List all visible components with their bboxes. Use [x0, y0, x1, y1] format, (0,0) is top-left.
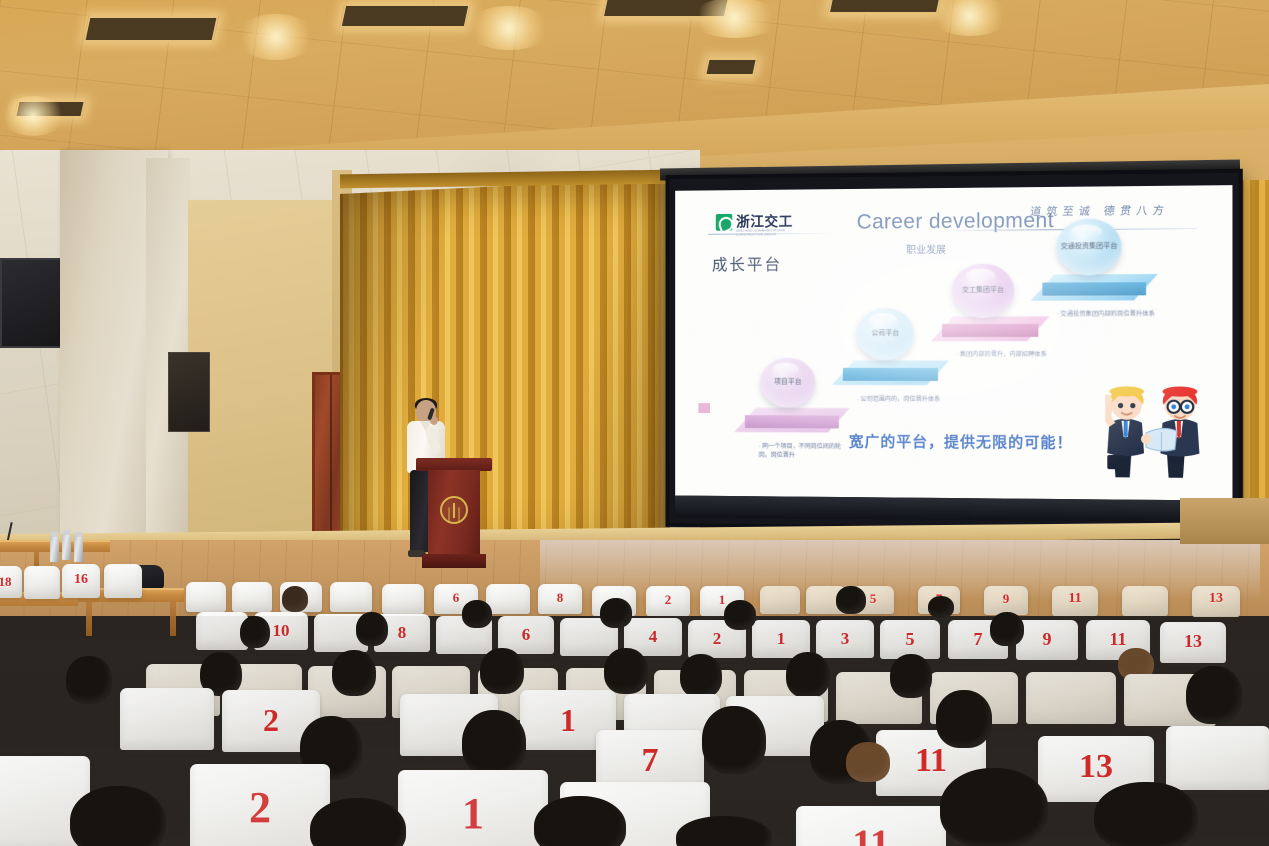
audience-head	[724, 600, 756, 630]
seat-number: 3	[816, 630, 874, 647]
slide-section-heading: 成长平台	[712, 251, 782, 275]
step-3-label: 交工集团平台	[962, 286, 1004, 295]
seat-number: 7	[596, 744, 704, 778]
speaker-podium	[422, 458, 486, 570]
audience-head	[282, 586, 308, 612]
audience-head	[928, 596, 954, 618]
audience-head	[990, 612, 1024, 646]
thermos-bottle	[50, 536, 59, 562]
seat-chair[interactable]	[330, 582, 372, 612]
slide-title-chinese: 职业发展	[906, 241, 946, 256]
audience-head	[240, 616, 270, 648]
step-1-slab-front	[745, 415, 839, 428]
step-2-label: 公司平台	[871, 330, 899, 339]
stage-curtain-shading	[340, 178, 670, 578]
seat-number: 1	[398, 792, 548, 836]
seat-chair[interactable]: 18	[0, 566, 22, 598]
seat-chair[interactable]: 2	[646, 586, 690, 616]
seat-number: 13	[1038, 750, 1154, 784]
stage-step-right	[1180, 498, 1269, 544]
step-3-bubble: 交工集团平台	[952, 264, 1014, 318]
seat-chair[interactable]	[232, 582, 272, 612]
seat-chair[interactable]: 1	[398, 770, 548, 846]
mascot-engineers	[1105, 360, 1212, 480]
step-4-bubble: 交通投资集团平台	[1057, 219, 1122, 276]
seat-chair[interactable]	[760, 586, 800, 614]
seat-chair[interactable]	[104, 564, 142, 598]
step-4-slab-front	[1042, 282, 1146, 296]
step-2-slab-front	[843, 368, 938, 381]
thermos-bottle	[62, 534, 71, 560]
seat-chair[interactable]: 3	[816, 620, 874, 658]
front-desk-leg	[170, 602, 176, 636]
seat-number: 2	[688, 630, 746, 647]
seat-chair[interactable]: 9	[984, 586, 1028, 615]
podium-base	[422, 554, 486, 568]
seat-chair[interactable]	[186, 582, 226, 612]
wall-display-panel	[0, 258, 66, 348]
step-4-description: · 交通投资集团内部的岗位晋升体系	[1057, 309, 1167, 319]
audience-head	[356, 612, 388, 646]
step-1-bubble: 项目平台	[761, 358, 816, 408]
slide-tagline: 宽广的平台，提供无限的可能！	[849, 431, 1073, 453]
audience-head	[936, 690, 992, 748]
audience-head	[680, 654, 722, 698]
seat-chair[interactable]: 9	[1016, 620, 1078, 660]
seat-number: 9	[1016, 630, 1078, 648]
slide-calligraphy-motto: 道筑至诚 德贯八方	[1029, 202, 1170, 219]
step-2-description: · 公司范围内的，岗位晋升体系	[857, 395, 952, 405]
engineer-characters-icon	[1105, 360, 1212, 480]
audience-head	[70, 786, 166, 846]
seat-chair[interactable]	[1026, 672, 1116, 724]
seat-number: 13	[1192, 592, 1240, 606]
audience-head	[480, 648, 524, 694]
ceiling-vent	[828, 0, 943, 14]
seat-number: 11	[1052, 592, 1098, 606]
seat-chair[interactable]: 16	[62, 564, 100, 598]
ceiling-vent	[339, 4, 470, 28]
front-desk-leg	[86, 602, 92, 636]
projection-screen: 浙江交工 ZHEJIANG COMMUNICATIONS CONSTRUCTIO…	[666, 169, 1243, 534]
seat-chair[interactable]: 11	[796, 806, 946, 846]
step-3-description: · 集团内部的晋升，内部招聘体系	[956, 350, 1053, 359]
seat-number: 4	[624, 628, 682, 645]
ceiling-light	[0, 96, 66, 136]
seat-chair[interactable]	[1122, 586, 1168, 616]
seat-chair[interactable]	[486, 584, 530, 614]
audience-head	[1094, 782, 1198, 846]
seat-chair[interactable]: 11	[1052, 586, 1098, 616]
audience-head	[332, 650, 376, 696]
audience-head	[890, 654, 932, 698]
seat-number: 13	[1160, 632, 1226, 650]
wall-speaker	[168, 352, 210, 432]
seat-number: 5	[880, 630, 940, 648]
audience-head	[836, 586, 866, 614]
seat-number: 6	[498, 626, 554, 643]
seat-chair[interactable]: 8	[538, 584, 582, 614]
logo-leaf-icon	[716, 213, 733, 230]
slide-surface: 浙江交工 ZHEJIANG COMMUNICATIONS CONSTRUCTIO…	[675, 185, 1232, 500]
seat-number: 16	[62, 573, 100, 587]
audience-head	[310, 798, 406, 846]
company-logo: 浙江交工 ZHEJIANG COMMUNICATIONS CONSTRUCTIO…	[716, 211, 793, 231]
ceiling-vent	[704, 58, 758, 76]
seat-chair[interactable]: 2	[190, 764, 330, 846]
audience-head	[66, 656, 112, 704]
ceiling-vent	[83, 16, 219, 42]
seat-number: 1	[752, 630, 810, 647]
seat-number: 11	[796, 824, 946, 846]
seat-chair[interactable]	[24, 566, 60, 599]
presentation-slide: 浙江交工 ZHEJIANG COMMUNICATIONS CONSTRUCTIO…	[675, 185, 1232, 500]
audience-head	[600, 598, 632, 628]
audience-head	[846, 742, 890, 782]
seat-chair[interactable]: 13	[1192, 586, 1240, 617]
slide-bullet-marker	[698, 403, 710, 413]
audience-head	[676, 816, 772, 846]
auditorium-scene: 浙江交工 ZHEJIANG COMMUNICATIONS CONSTRUCTIO…	[0, 0, 1269, 846]
step-1-label: 项目平台	[774, 378, 801, 387]
audience-head	[702, 706, 766, 774]
seat-number: 18	[0, 575, 22, 588]
step-3-slab-front	[942, 324, 1038, 337]
step-4-label: 交通投资集团平台	[1061, 243, 1118, 252]
audience-head	[786, 652, 830, 698]
seat-number: 2	[190, 786, 330, 830]
audience-head	[462, 600, 492, 628]
seat-number: 2	[646, 593, 690, 606]
seat-number: 8	[538, 591, 582, 604]
audience-head	[604, 648, 648, 694]
audience-head	[462, 710, 526, 776]
thermos-bottle	[74, 536, 83, 562]
audience-head	[534, 796, 626, 846]
audience-head	[940, 768, 1048, 846]
step-1-description: · 同一个项目，不同岗位间的轮岗，岗位晋升	[759, 442, 853, 461]
podium-emblem-icon	[440, 496, 468, 524]
step-2-bubble: 公司平台	[857, 308, 914, 360]
seat-chair[interactable]	[120, 688, 214, 750]
ceiling-light	[466, 6, 552, 50]
seat-chair[interactable]	[382, 584, 424, 614]
screen-bottom-bezel	[675, 495, 1232, 522]
seat-chair[interactable]	[1166, 726, 1269, 790]
seat-chair[interactable]: 13	[1160, 622, 1226, 663]
seat-number: 9	[984, 592, 1028, 605]
audience-head	[1186, 666, 1242, 724]
ceiling-light	[236, 14, 316, 60]
seat-number: 11	[1086, 630, 1150, 648]
